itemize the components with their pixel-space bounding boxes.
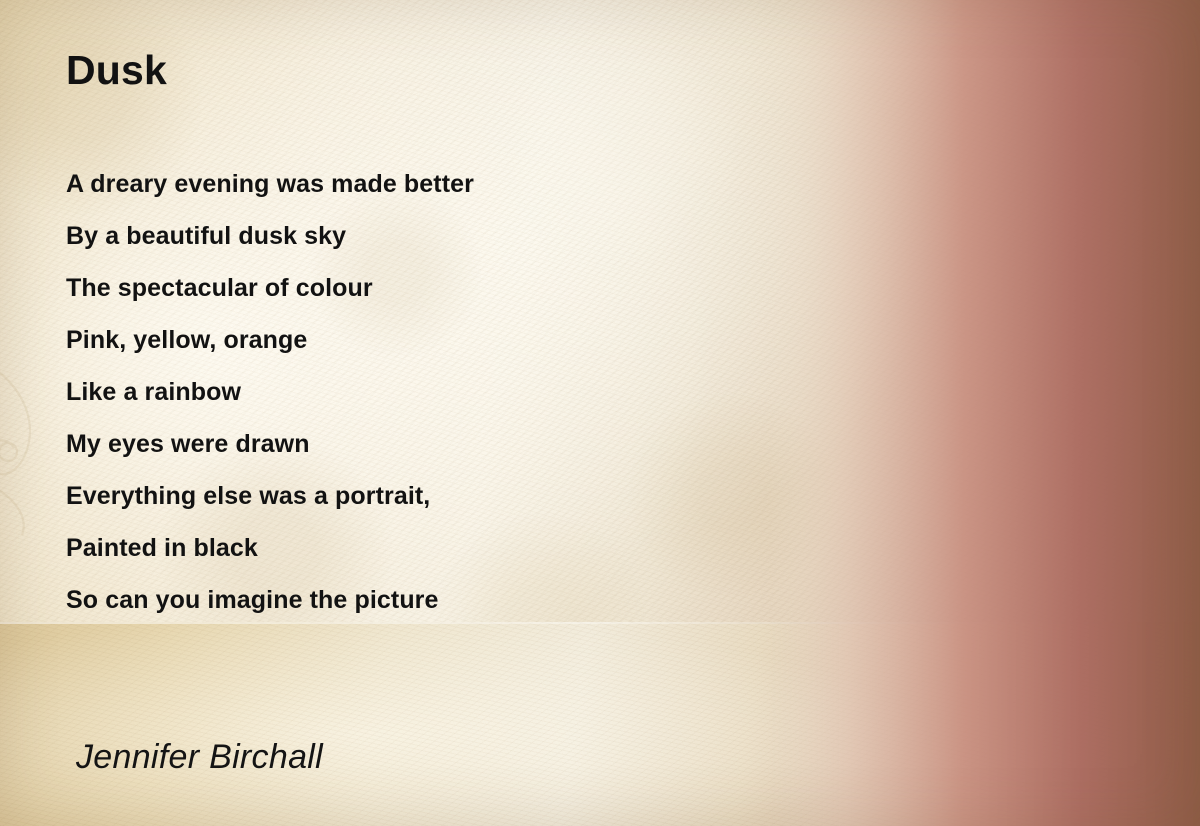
rose-flourish-decoration-footer xyxy=(770,622,1200,826)
poem-line: Everything else was a portrait, xyxy=(66,470,766,522)
poem-body: A dreary evening was made better By a be… xyxy=(66,158,766,626)
poem-line: Pink, yellow, orange xyxy=(66,314,766,366)
poem-line: A dreary evening was made better xyxy=(66,158,766,210)
page-title: Dusk xyxy=(66,50,167,91)
footer-band xyxy=(0,622,1200,826)
poem-line: The spectacular of colour xyxy=(66,262,766,314)
poem-line: Like a rainbow xyxy=(66,366,766,418)
poem-line: By a beautiful dusk sky xyxy=(66,210,766,262)
author-signature: Jennifer Birchall xyxy=(76,738,323,777)
poem-image-card: Dusk A dreary evening was made better By… xyxy=(0,0,1200,826)
poem-line: So can you imagine the picture xyxy=(66,574,766,626)
poem-line: My eyes were drawn xyxy=(66,418,766,470)
poem-line: Painted in black xyxy=(66,522,766,574)
